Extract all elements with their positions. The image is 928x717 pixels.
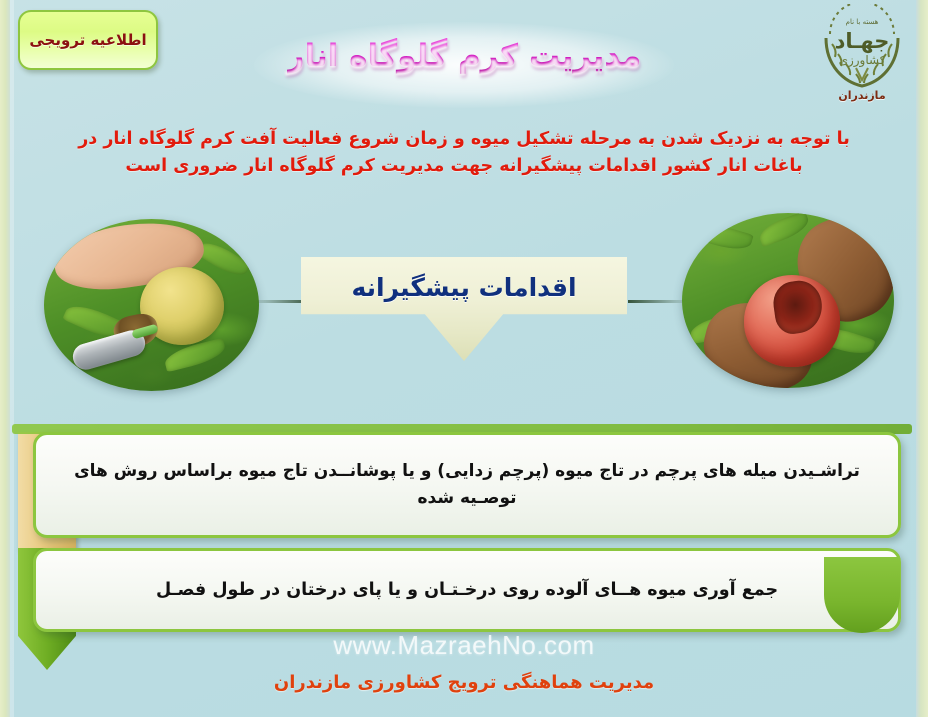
photo-infested-fruit [682, 213, 894, 388]
intro-paragraph: با توجه به نزدیک شدن به مرحله تشکیل میوه… [48, 126, 880, 180]
measure-panel-1-text: تراشـیدن میله های پرچم در تاج میوه (پرچم… [36, 458, 898, 512]
corner-dome-decoration [824, 557, 900, 633]
left-frame-highlight [10, 0, 14, 717]
left-frame-strip [0, 0, 10, 717]
site-watermark: www.MazraehNo.com [0, 630, 928, 661]
title-glow-decoration [254, 22, 674, 108]
right-frame-strip [916, 0, 928, 717]
photo-left-canopy [44, 219, 259, 391]
ministry-logo-caption: مازندران [810, 89, 914, 102]
svg-text:کشاورزی: کشاورزی [839, 53, 886, 68]
intro-line-1: با توجه به نزدیک شدن به مرحله تشکیل میوه… [48, 126, 880, 153]
svg-text:جهـاد: جهـاد [835, 29, 890, 53]
preventive-measures-banner-label: اقدامات پیشگیرانه [351, 273, 576, 302]
svg-text:هسته با نام: هسته با نام [846, 18, 879, 26]
poster-canvas: اطلاعیه ترویجی مدیریت کرم گلوگاه انار هس… [0, 0, 928, 717]
measure-panel-2: جمع آوری میوه هــای آلوده روی درخـتـان و… [33, 548, 901, 632]
leaf-shape [694, 220, 753, 255]
intro-line-2: باغات انار کشور اقدامات پیشگیرانه جهت مد… [48, 153, 880, 180]
preventive-measures-banner: اقدامات پیشگیرانه [301, 257, 627, 361]
photo-preventive-treatment [44, 219, 259, 391]
extension-notice-badge-label: اطلاعیه ترویجی [29, 31, 146, 49]
photo-right-canopy [682, 213, 894, 388]
connector-line-right [628, 300, 682, 303]
ministry-logo: هسته با نام جهـاد کشاورزی مازندران [810, 4, 914, 104]
measure-panel-2-text: جمع آوری میوه هــای آلوده روی درخـتـان و… [130, 576, 804, 604]
page-title: مدیریت کرم گلوگاه انار [287, 38, 642, 74]
measure-panel-1: تراشـیدن میله های پرچم در تاج میوه (پرچم… [33, 432, 901, 538]
extension-notice-badge: اطلاعیه ترویجی [18, 10, 158, 70]
agriculture-jihad-logo-icon: هسته با نام جهـاد کشاورزی [810, 4, 914, 92]
footer-organization: مدیریت هماهنگی ترویج کشاورزی مازندران [0, 672, 928, 693]
